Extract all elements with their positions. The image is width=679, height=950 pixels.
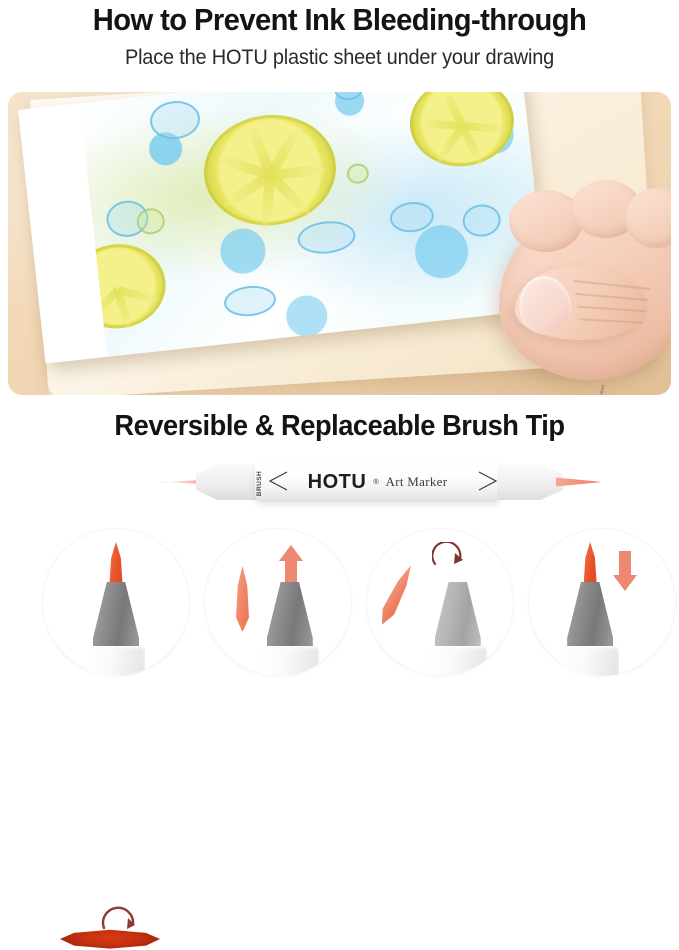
rotate-arrow-icon bbox=[100, 904, 140, 932]
lemon-slice bbox=[198, 108, 341, 232]
arrow-down-icon bbox=[612, 550, 638, 592]
marker-cone bbox=[435, 582, 481, 654]
hand bbox=[463, 180, 671, 385]
step-tip-installed bbox=[42, 528, 190, 676]
marker-diagram: HOTU ® Art Marker BRUSH FINE bbox=[0, 448, 679, 522]
brush-tip-steps bbox=[0, 528, 679, 676]
brush-tip-seated-icon bbox=[105, 542, 127, 586]
registered-mark: ® bbox=[373, 479, 378, 486]
bubble bbox=[346, 163, 370, 185]
brush-side-label: BRUSH bbox=[256, 471, 263, 496]
bubble bbox=[223, 283, 278, 318]
rotate-arrow-icon bbox=[432, 542, 466, 568]
fine-tip-arrow-icon bbox=[478, 470, 498, 492]
marker-cone bbox=[93, 582, 139, 654]
section-title-brush-tip: Reversible & Replaceable Brush Tip bbox=[20, 410, 658, 443]
step-flip-tip-over bbox=[366, 528, 514, 676]
page-title: How to Prevent Ink Bleeding-through bbox=[20, 2, 658, 38]
lemon-slice bbox=[405, 92, 518, 171]
marker-body bbox=[561, 646, 619, 676]
brush-tip-removed-icon bbox=[234, 566, 251, 632]
brush-tip-tilted-icon bbox=[374, 562, 418, 629]
brand-name: HOTU bbox=[308, 471, 367, 494]
bubble bbox=[148, 99, 202, 142]
bubble bbox=[332, 92, 365, 102]
marker-barrel: HOTU ® Art Marker BRUSH FINE bbox=[255, 462, 500, 502]
marker-cone bbox=[567, 582, 613, 654]
marker-body bbox=[429, 646, 487, 676]
step-reinsert-tip bbox=[528, 528, 676, 676]
product-name: Art Marker bbox=[386, 474, 448, 490]
marker-left-cone bbox=[196, 464, 258, 500]
marker-cone bbox=[267, 582, 313, 654]
marker-body bbox=[261, 646, 319, 676]
product-infographic: How to Prevent Ink Bleeding-through Plac… bbox=[0, 0, 679, 676]
bubble bbox=[296, 218, 357, 256]
page-subtitle: Place the HOTU plastic sheet under your … bbox=[17, 46, 662, 70]
marker-body bbox=[87, 646, 145, 676]
demo-photo-panel: If you are coloring on thin paper bbox=[8, 92, 671, 395]
step-pull-tip-out bbox=[204, 528, 352, 676]
brush-tip-arrow-icon bbox=[268, 470, 288, 492]
marker-branding: HOTU ® Art Marker bbox=[255, 462, 500, 502]
marker-right-cone bbox=[497, 464, 563, 500]
arrow-up-icon bbox=[278, 544, 304, 586]
bubble bbox=[388, 200, 435, 235]
brush-tip-reinsert-icon bbox=[579, 542, 601, 586]
